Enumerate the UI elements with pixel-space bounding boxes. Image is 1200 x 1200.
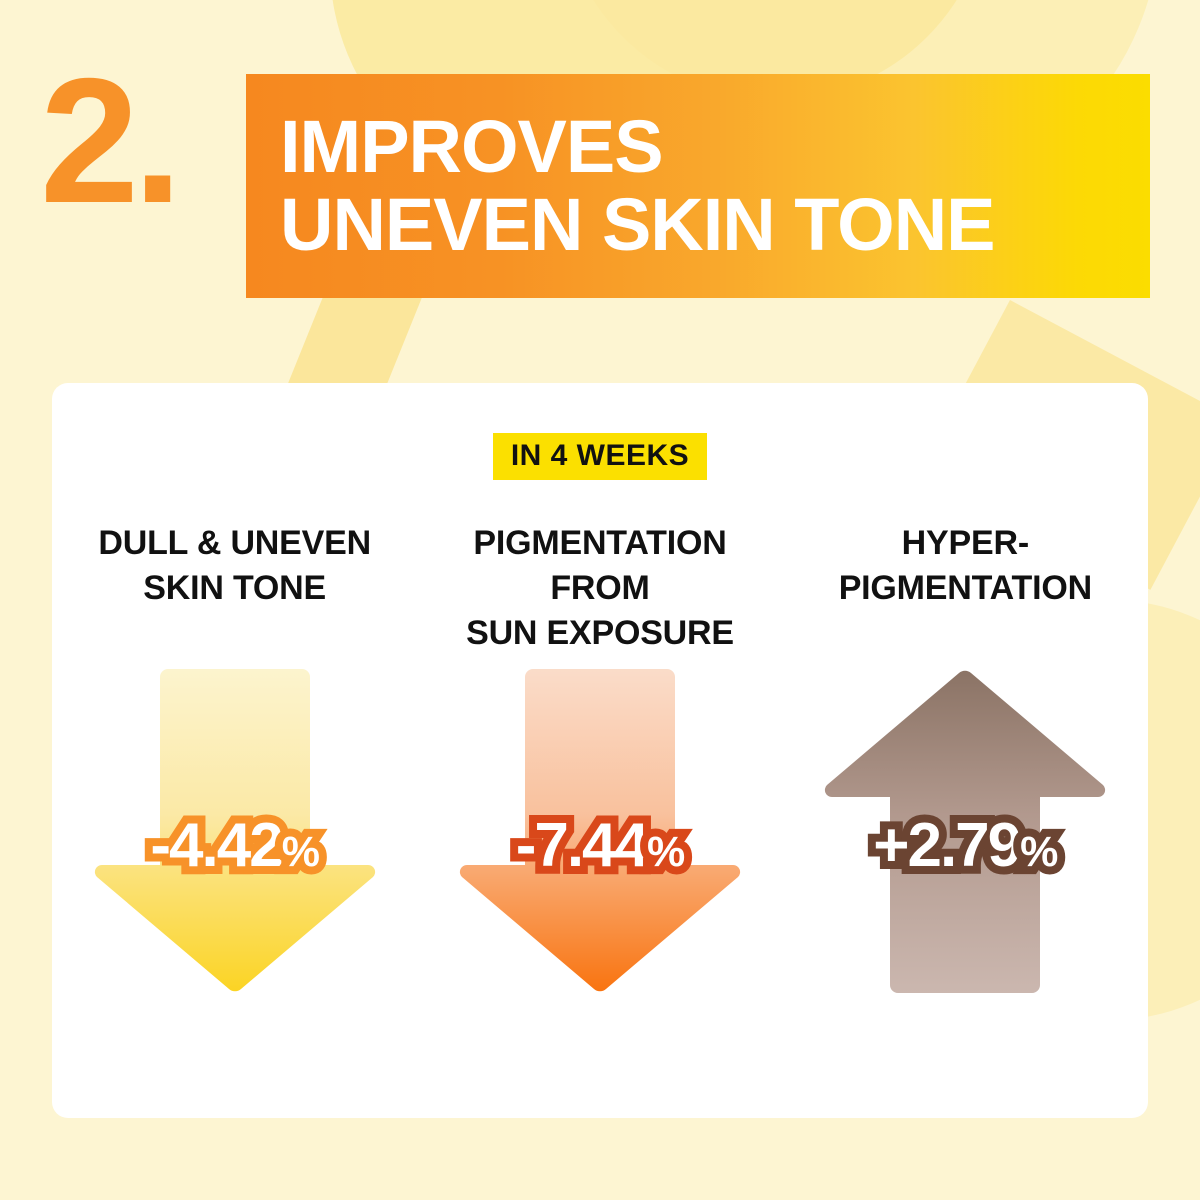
page-title-line-2: UNEVEN SKIN TONE (280, 186, 1116, 264)
infographic-slide: 2. IMPROVES UNEVEN SKIN TONE IN 4 WEEKS … (0, 0, 1200, 1200)
title-banner: IMPROVES UNEVEN SKIN TONE (246, 74, 1150, 298)
metric-column-pigmentation-sun-exposure: PIGMENTATION FROM SUN EXPOSURE (417, 521, 782, 999)
arrow-graphic-1: -4.42% (85, 669, 385, 999)
arrow-graphic-3: +2.79% (815, 669, 1115, 999)
metric-value-number: +2.79 (873, 811, 1020, 880)
metric-column-hyperpigmentation: HYPER- PIGMENTATION +2.7 (783, 521, 1148, 999)
metric-value-3: +2.79% (873, 815, 1057, 877)
metric-column-dull-uneven-skin-tone: DULL & UNEVEN SKIN TONE (52, 521, 417, 999)
metric-title: DULL & UNEVEN SKIN TONE (98, 521, 371, 657)
metric-percent-sign: % (647, 828, 684, 876)
metric-title: PIGMENTATION FROM SUN EXPOSURE (466, 521, 734, 657)
arrow-graphic-2: -7.44% (450, 669, 750, 999)
metric-value-1: -4.42% (150, 815, 319, 877)
metric-value-2: -7.44% (516, 815, 685, 877)
badge-row: IN 4 WEEKS (52, 433, 1148, 480)
metric-percent-sign: % (1020, 828, 1057, 876)
metrics-row: DULL & UNEVEN SKIN TONE (52, 521, 1148, 999)
results-card: IN 4 WEEKS DULL & UNEVEN SKIN TONE (52, 383, 1148, 1118)
status-badge: IN 4 WEEKS (493, 433, 707, 480)
header: 2. IMPROVES UNEVEN SKIN TONE (0, 0, 1200, 330)
metric-percent-sign: % (282, 828, 319, 876)
step-number: 2. (40, 52, 176, 230)
metric-value-number: -4.42 (150, 811, 281, 880)
metric-title: HYPER- PIGMENTATION (839, 521, 1092, 657)
page-title-line-1: IMPROVES (280, 108, 1116, 186)
metric-value-number: -7.44 (516, 811, 647, 880)
